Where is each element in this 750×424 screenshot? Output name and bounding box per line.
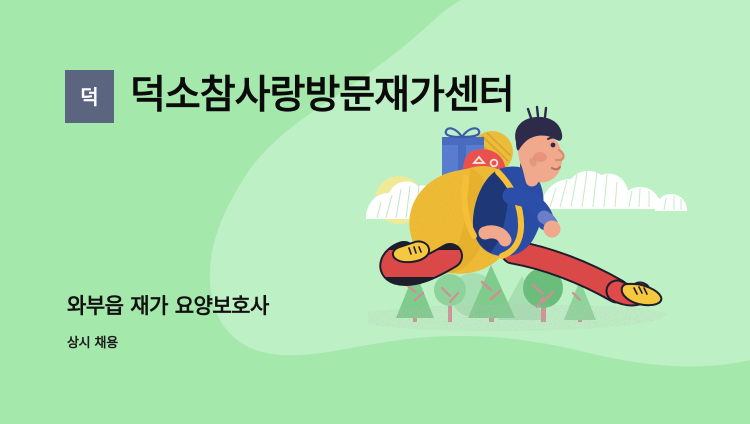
runner-back-hand [485,232,505,240]
job-posting-banner: 덕 덕소참사랑방문재가센터 와부읍 재가 요양보호사 상시 채용 [0,0,750,424]
runner-fist [544,221,561,238]
job-info-block: 와부읍 재가 요양보호사 상시 채용 [67,294,269,352]
organization-header: 덕 덕소참사랑방문재가센터 [65,70,514,123]
logo-badge-label: 덕 [80,87,98,107]
job-position-title: 와부읍 재가 요양보호사 [67,294,269,319]
illustration-canvas [0,0,750,424]
job-recruitment-status: 상시 채용 [67,336,269,352]
organization-title: 덕소참사랑방문재가센터 [130,76,514,117]
organization-logo-badge: 덕 [65,70,114,123]
